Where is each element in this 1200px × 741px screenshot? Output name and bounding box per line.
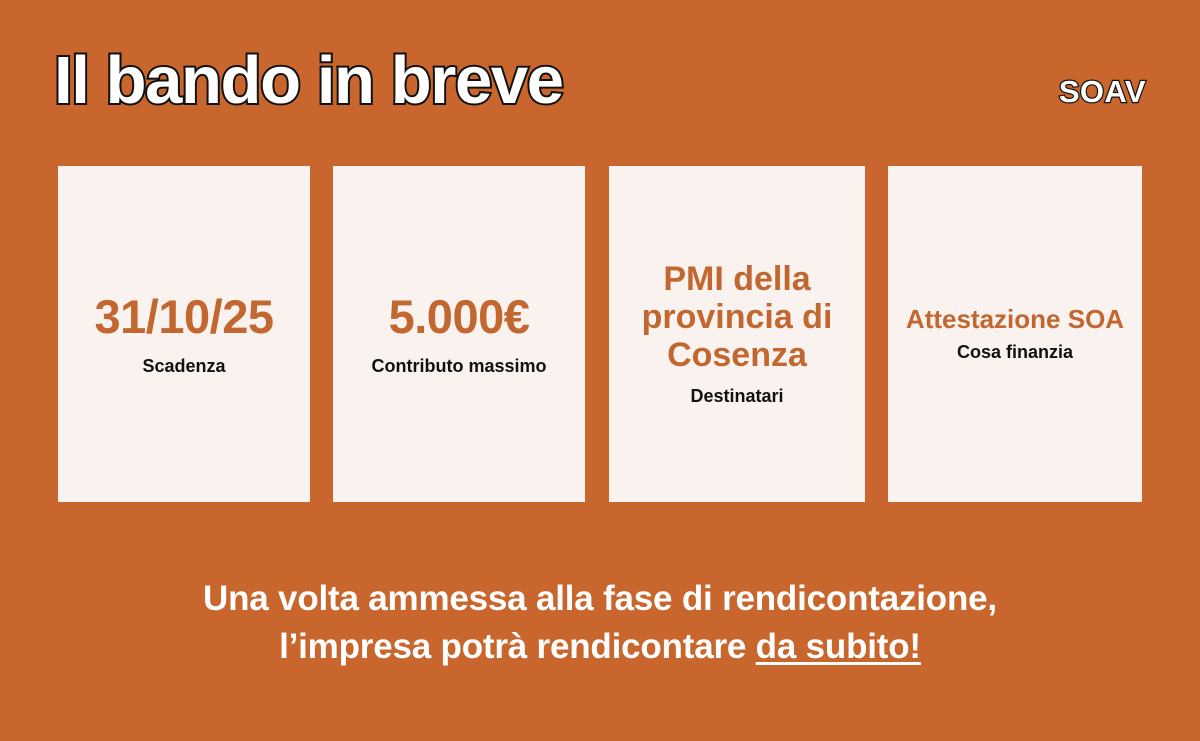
highlight-card-row: 31/10/25 Scadenza 5.000€ Contributo mass… (58, 166, 1142, 502)
highlight-card-scadenza: 31/10/25 Scadenza (58, 166, 310, 502)
highlight-card-contributo: 5.000€ Contributo massimo (333, 166, 585, 502)
brand-logo: SOAV (1059, 76, 1146, 107)
footer-emphasis: da subito! (756, 627, 921, 666)
highlight-card-destinatari: PMI della provincia di Cosenza Destinata… (609, 166, 865, 502)
page-title: Il bando in breve (54, 47, 563, 114)
card-label: Contributo massimo (371, 356, 546, 378)
footer-line-1: Una volta ammessa alla fase di rendicont… (0, 575, 1200, 623)
card-value: 5.000€ (389, 291, 530, 344)
slide-canvas: Il bando in breve SOAV 31/10/25 Scadenza… (0, 0, 1200, 741)
card-label: Scadenza (142, 356, 225, 378)
card-value: 31/10/25 (95, 291, 274, 344)
footer-line-2-prefix: l’impresa potrà rendicontare (279, 627, 756, 666)
highlight-card-cosa-finanzia: Attestazione SOA Cosa finanzia (888, 166, 1142, 502)
footer-note: Una volta ammessa alla fase di rendicont… (0, 575, 1200, 672)
slide-header: Il bando in breve SOAV (0, 0, 1200, 160)
card-label: Destinatari (690, 386, 783, 408)
footer-line-2: l’impresa potrà rendicontare da subito! (0, 623, 1200, 671)
card-value: PMI della provincia di Cosenza (619, 260, 855, 374)
card-value: Attestazione SOA (906, 305, 1124, 334)
card-label: Cosa finanzia (957, 342, 1073, 364)
